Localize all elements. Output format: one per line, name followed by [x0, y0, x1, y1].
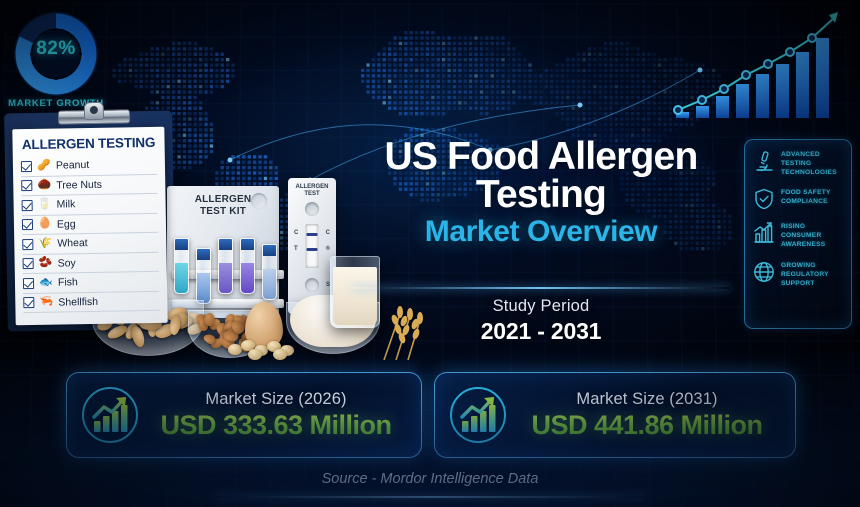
allergen-row[interactable]: 🥚Egg [22, 213, 158, 235]
clipboard-clip-icon [58, 101, 130, 128]
allergen-row[interactable]: 🌾Wheat [22, 233, 158, 255]
shellfish-icon: 🦐 [39, 297, 53, 308]
allergen-list: 🥜Peanut🌰Tree Nuts🥛Milk🥚Egg🌾Wheat🫘Soy🐟Fis… [21, 155, 160, 313]
allergen-row[interactable]: 🥜Peanut [21, 155, 157, 177]
milk-icon: 🥛 [38, 199, 52, 210]
allergen-checkbox[interactable] [23, 278, 34, 289]
allergen-label: Fish [58, 276, 78, 288]
allergen-label: Soy [58, 257, 76, 269]
allergen-row[interactable]: 🐟Fish [23, 272, 159, 294]
infographic-canvas: 82% MARKET GROWTH ALLERGEN TESTING 🥜Pean… [0, 0, 860, 507]
allergen-row[interactable]: 🥛Milk [21, 194, 157, 216]
allergen-checkbox[interactable] [22, 219, 33, 230]
treenut-icon: 🌰 [37, 180, 51, 191]
egg-icon: 🥚 [38, 219, 52, 230]
checklist-paper: ALLERGEN TESTING 🥜Peanut🌰Tree Nuts🥛Milk🥚… [12, 127, 167, 326]
allergen-checkbox[interactable] [22, 239, 33, 250]
allergen-checkbox[interactable] [21, 180, 32, 191]
allergen-label: Peanut [56, 159, 89, 172]
allergen-checkbox[interactable] [21, 161, 32, 172]
peanut-icon: 🥜 [37, 160, 51, 171]
allergen-row[interactable]: 🫘Soy [22, 252, 158, 274]
allergen-label: Shellfish [58, 296, 98, 309]
allergen-checkbox[interactable] [22, 200, 33, 211]
allergen-checkbox[interactable] [23, 297, 34, 308]
allergen-label: Wheat [57, 237, 88, 250]
allergen-label: Egg [57, 218, 76, 230]
allergen-label: Tree Nuts [56, 179, 102, 192]
soy-icon: 🫘 [39, 258, 53, 269]
allergen-row[interactable]: 🌰Tree Nuts [21, 174, 157, 196]
fish-icon: 🐟 [39, 277, 53, 288]
allergen-row[interactable]: 🦐Shellfish [23, 291, 159, 313]
allergen-checkbox[interactable] [23, 258, 34, 269]
wheat-icon: 🌾 [38, 238, 52, 249]
allergen-label: Milk [57, 199, 76, 211]
allergen-clipboard: ALLERGEN TESTING 🥜Peanut🌰Tree Nuts🥛Milk🥚… [6, 112, 174, 330]
checklist-title: ALLERGEN TESTING [20, 135, 156, 152]
